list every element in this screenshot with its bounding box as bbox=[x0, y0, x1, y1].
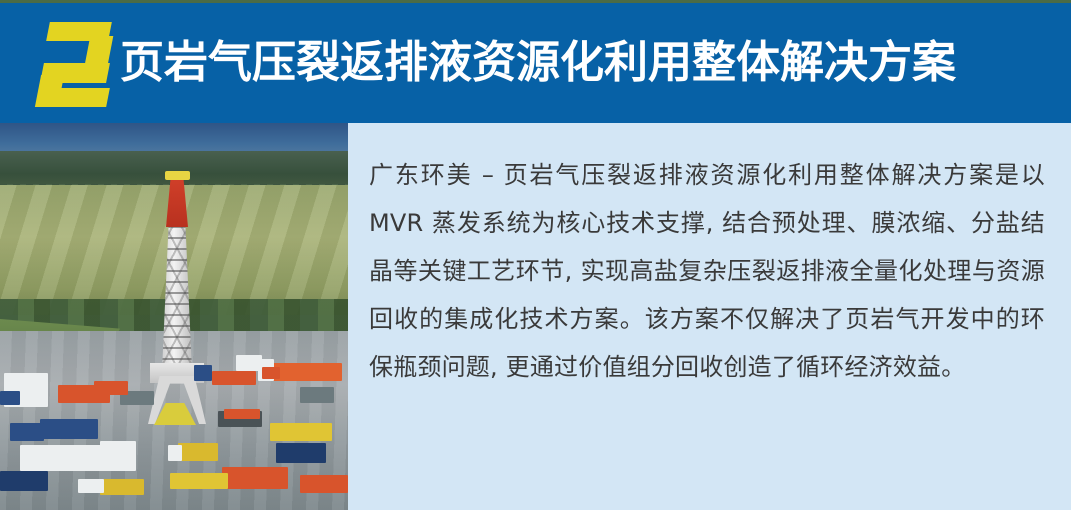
pad-equipment-unit bbox=[194, 365, 212, 381]
section-title: 页岩气压裂返排液资源化利用整体解决方案 bbox=[120, 41, 956, 85]
description-panel: 广东环美 – 页岩气压裂返排液资源化利用整体解决方案是以 MVR 蒸发系统为核心… bbox=[348, 123, 1071, 510]
pad-equipment-tank bbox=[222, 467, 288, 489]
pad-equipment-tank bbox=[300, 475, 348, 493]
pad-equipment-pit-liner bbox=[224, 409, 260, 419]
pad-equipment-trailer bbox=[170, 473, 228, 489]
pad-equipment-tank bbox=[94, 381, 128, 395]
pad-equipment-truck-cab bbox=[168, 445, 182, 461]
solution-section-card: 页岩气压裂返排液资源化利用整体解决方案 bbox=[0, 0, 1071, 510]
pad-equipment-office-trailer bbox=[100, 441, 136, 471]
pad-equipment-unit bbox=[300, 387, 334, 403]
pad-equipment-trailer bbox=[270, 423, 332, 441]
pad-equipment-office-trailer bbox=[20, 445, 112, 471]
drilling-site-photo bbox=[0, 123, 348, 510]
derrick-crown-block bbox=[165, 171, 190, 180]
pad-equipment-unit bbox=[262, 367, 280, 379]
photo-drilling-derrick bbox=[148, 171, 206, 419]
pad-equipment-truck bbox=[0, 471, 48, 491]
pad-equipment-truck bbox=[276, 443, 326, 463]
pad-equipment-truck bbox=[40, 419, 98, 439]
pad-equipment-tank bbox=[212, 371, 256, 385]
content-row: 广东环美 – 页岩气压裂返排液资源化利用整体解决方案是以 MVR 蒸发系统为核心… bbox=[0, 123, 1071, 510]
section-number-badge bbox=[38, 22, 110, 107]
pad-equipment-unit bbox=[0, 391, 20, 405]
section-header-band: 页岩气压裂返排液资源化利用整体解决方案 bbox=[0, 3, 1071, 123]
pad-equipment-truck bbox=[10, 423, 44, 441]
numeral-stroke-bottom bbox=[36, 88, 110, 107]
pad-equipment-dump-truck bbox=[178, 443, 218, 461]
pad-equipment-dump-truck bbox=[100, 479, 144, 495]
derrick-red-upper bbox=[166, 175, 188, 227]
pad-equipment-tank bbox=[272, 363, 342, 381]
description-text: 广东环美 – 页岩气压裂返排液资源化利用整体解决方案是以 MVR 蒸发系统为核心… bbox=[369, 151, 1045, 391]
pad-equipment-truck-cab bbox=[78, 479, 104, 493]
